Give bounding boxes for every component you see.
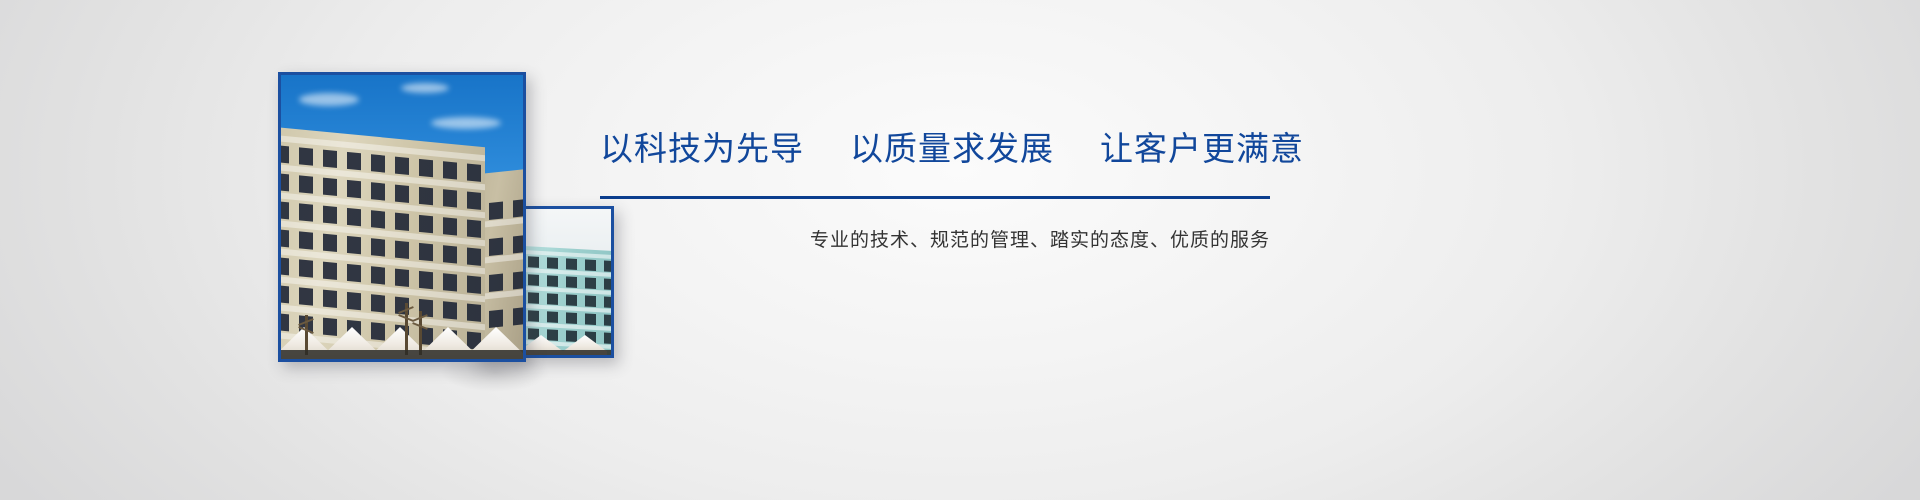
headline-part-1: 以科技为先导 <box>600 128 804 169</box>
tree-shape <box>305 315 308 355</box>
company-slogan-banner: 以科技为先导 以质量求发展 让客户更满意 专业的技术、规范的管理、踏实的态度、优… <box>0 0 1920 500</box>
slogan-text-block: 以科技为先导 以质量求发展 让客户更满意 专业的技术、规范的管理、踏实的态度、优… <box>600 128 1300 252</box>
tree-shape <box>419 311 422 355</box>
cloud-shape <box>401 83 449 93</box>
subtitle: 专业的技术、规范的管理、踏实的态度、优质的服务 <box>600 225 1270 252</box>
photo-main-artwork <box>281 75 523 359</box>
photo-office-building-main[interactable] <box>278 72 526 362</box>
cloud-shape <box>299 93 359 106</box>
headline-part-3: 让客户更满意 <box>1100 128 1304 169</box>
headline-part-2: 以质量求发展 <box>850 128 1054 169</box>
tree-shape <box>405 303 408 355</box>
cloud-shape <box>431 117 501 129</box>
ground-strip <box>281 350 523 359</box>
headline: 以科技为先导 以质量求发展 让客户更满意 <box>600 128 1300 169</box>
headline-divider <box>600 196 1270 199</box>
